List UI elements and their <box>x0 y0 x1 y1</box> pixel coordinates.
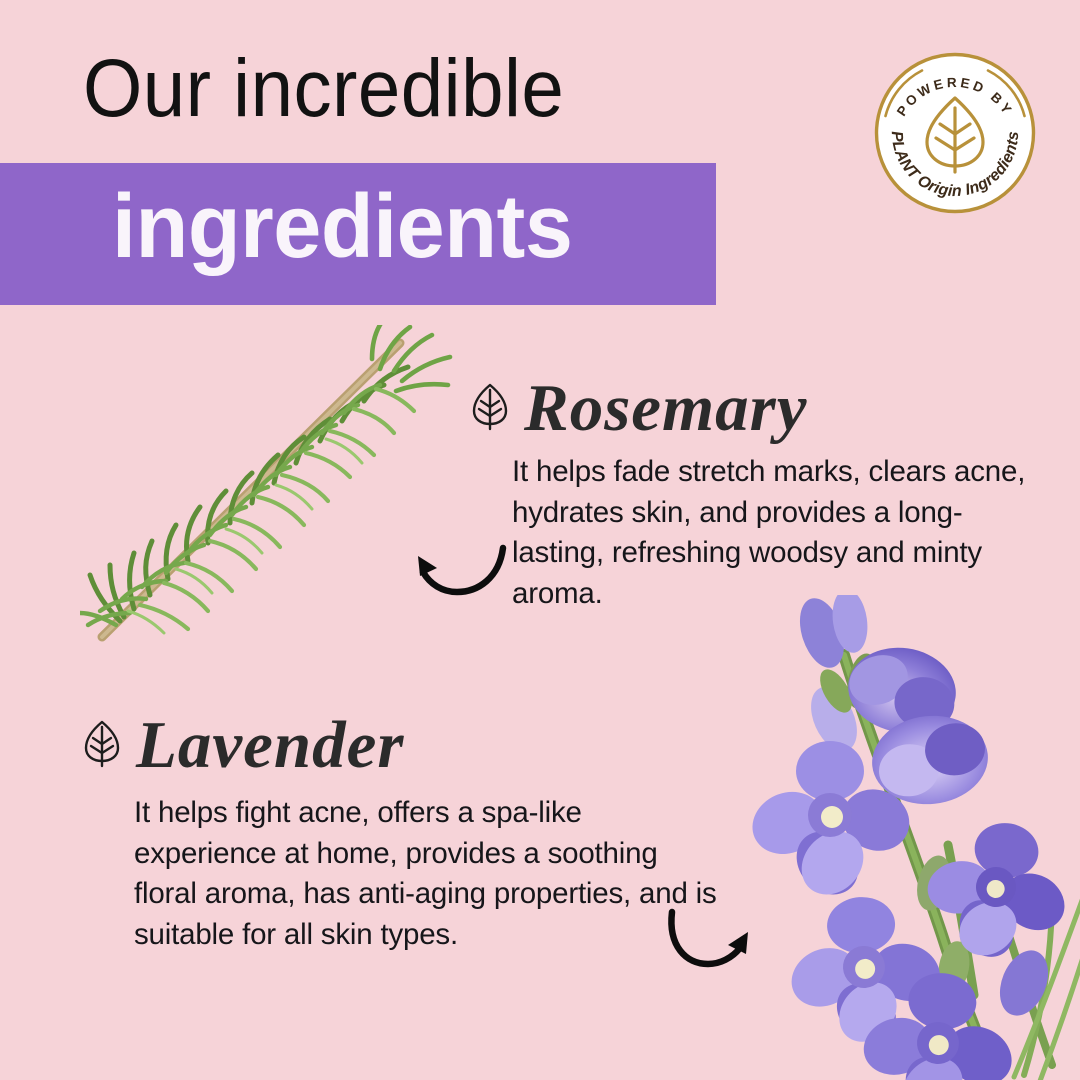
badge-graphic: POWERED BY PLANT Origin Ingredients <box>872 50 1038 216</box>
lavender-flowers-photo <box>752 595 1080 1080</box>
ingredient-description-lavender: It helps fight acne, offers a spa-like e… <box>134 793 724 956</box>
ingredient-heading-lavender: Lavender <box>82 712 722 779</box>
ingredient-block-rosemary: Rosemary It helps fade stretch marks, cl… <box>470 375 1040 615</box>
leaf-bullet-glyph <box>82 718 122 768</box>
curved-arrow-left-glyph <box>404 536 508 600</box>
ingredient-heading-rosemary: Rosemary <box>470 375 1040 442</box>
leaf-bullet-glyph <box>470 381 510 431</box>
leaf-bullet-icon <box>82 718 122 773</box>
rosemary-sprig-photo <box>80 325 460 650</box>
page-title-line-2: ingredients <box>112 182 572 272</box>
page-title-line-1: Our incredible <box>83 48 564 130</box>
leaf-bullet-icon <box>470 381 510 436</box>
lavender-illustration <box>752 595 1080 1080</box>
curved-arrow-right-glyph <box>662 906 766 978</box>
ingredient-block-lavender: Lavender It helps fight acne, offers a s… <box>82 712 722 956</box>
curved-arrow-right-icon <box>662 906 766 978</box>
ingredients-poster: Our incredible ingredients <box>0 0 1080 1080</box>
ingredient-description-rosemary: It helps fade stretch marks, clears acne… <box>512 452 1042 615</box>
curved-arrow-left-icon <box>404 536 508 600</box>
rosemary-illustration <box>80 325 460 650</box>
ingredient-name-rosemary: Rosemary <box>524 375 807 442</box>
plant-origin-badge: POWERED BY PLANT Origin Ingredients <box>872 50 1038 216</box>
rosemary-stem <box>102 343 400 637</box>
ingredient-name-lavender: Lavender <box>136 712 404 779</box>
